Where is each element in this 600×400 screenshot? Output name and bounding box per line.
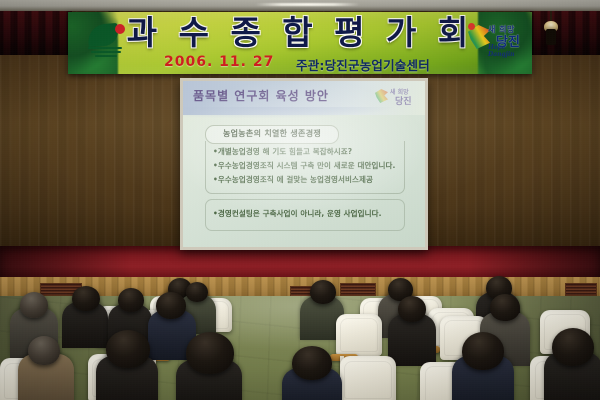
ceiling-light-icon — [255, 3, 360, 6]
audience-area — [0, 270, 600, 400]
person-head — [462, 332, 504, 370]
slide-corner-logo-icon: 새 희망 당진 — [375, 85, 419, 107]
slide-title: 품목별 연구회 육성 방안 — [193, 87, 329, 104]
person-head — [20, 292, 48, 318]
banner-date: 2006. 11. 27 — [164, 54, 274, 70]
person-head — [490, 294, 520, 321]
slide-bullet-1: •개별농업경영 해 기도 힘들고 복잡하시죠? — [213, 147, 352, 156]
slide-logo-kr-big: 당진 — [395, 94, 412, 107]
event-banner: 과 수 종 합 평 가 회 2006. 11. 27 주관:당진군농업기술센터 … — [68, 12, 532, 74]
person-head — [398, 296, 426, 322]
person-head — [552, 328, 594, 366]
person-head — [292, 346, 332, 380]
person-head — [186, 282, 208, 302]
person-head — [106, 330, 150, 368]
slide-footer-bullet: •경영컨설팅은 구축사업이 아니라, 운영 사업입니다. — [213, 209, 382, 218]
hope-dangjin-logo-icon: 새 희망 당진 HopeDangjin — [466, 17, 524, 65]
seat — [336, 314, 382, 356]
person-head — [118, 288, 144, 312]
projection-screen-frame: 품목별 연구회 육성 방안 새 희망 당진 농업농촌의 치열한 생존경쟁 •개별… — [180, 78, 428, 250]
banner-title: 과 수 종 합 평 가 회 — [68, 14, 532, 52]
seat — [340, 356, 396, 400]
ceiling — [0, 0, 600, 11]
slide-pill-label: 농업농촌의 치열한 생존경쟁 — [206, 128, 338, 139]
person-head — [310, 280, 336, 304]
conference-hall-photo: 과 수 종 합 평 가 회 2006. 11. 27 주관:당진군농업기술센터 … — [0, 0, 600, 400]
slide-bullet-2: •우수농업경영조직 시스템 구축 만이 새로운 대안입니다. — [213, 161, 395, 170]
logo-en-text: HopeDangjin — [488, 45, 514, 58]
person-head — [186, 332, 234, 374]
person-head — [28, 336, 60, 365]
person-head — [72, 286, 100, 311]
banner-host-organizer: 주관:당진군농업기술센터 — [296, 55, 430, 74]
projection-screen: 품목별 연구회 육성 방안 새 희망 당진 농업농촌의 치열한 생존경쟁 •개별… — [183, 81, 425, 247]
person-head — [156, 292, 186, 319]
slide-bullet-3: •우수농업경영조직 에 걸맞는 농업경영서비스제공 — [213, 175, 373, 184]
ceiling-lamp-icon — [543, 11, 559, 47]
